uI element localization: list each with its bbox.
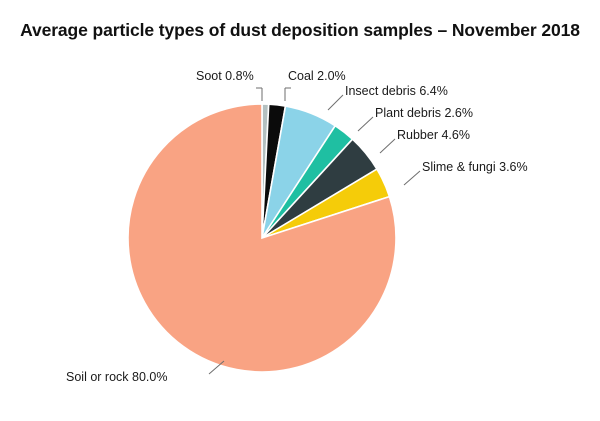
pie-slice-group: [128, 104, 396, 372]
leader-line-slime-and-fungi: [404, 171, 420, 185]
leader-line-plant-debris: [358, 117, 373, 131]
slice-label-soot: Soot 0.8%: [196, 70, 254, 83]
slice-label-rubber: Rubber 4.6%: [397, 129, 470, 142]
slice-label-plant-debris: Plant debris 2.6%: [375, 107, 473, 120]
leader-line-rubber: [380, 139, 395, 153]
leader-line-insect-debris: [328, 95, 343, 110]
slice-label-coal: Coal 2.0%: [288, 70, 346, 83]
slice-label-soil-or-rock: Soil or rock 80.0%: [66, 371, 167, 384]
pie-chart: Average particle types of dust depositio…: [0, 0, 600, 421]
pie-svg-canvas: [0, 0, 600, 421]
slice-label-slime-and-fungi: Slime & fungi 3.6%: [422, 161, 528, 174]
slice-label-insect-debris: Insect debris 6.4%: [345, 85, 448, 98]
